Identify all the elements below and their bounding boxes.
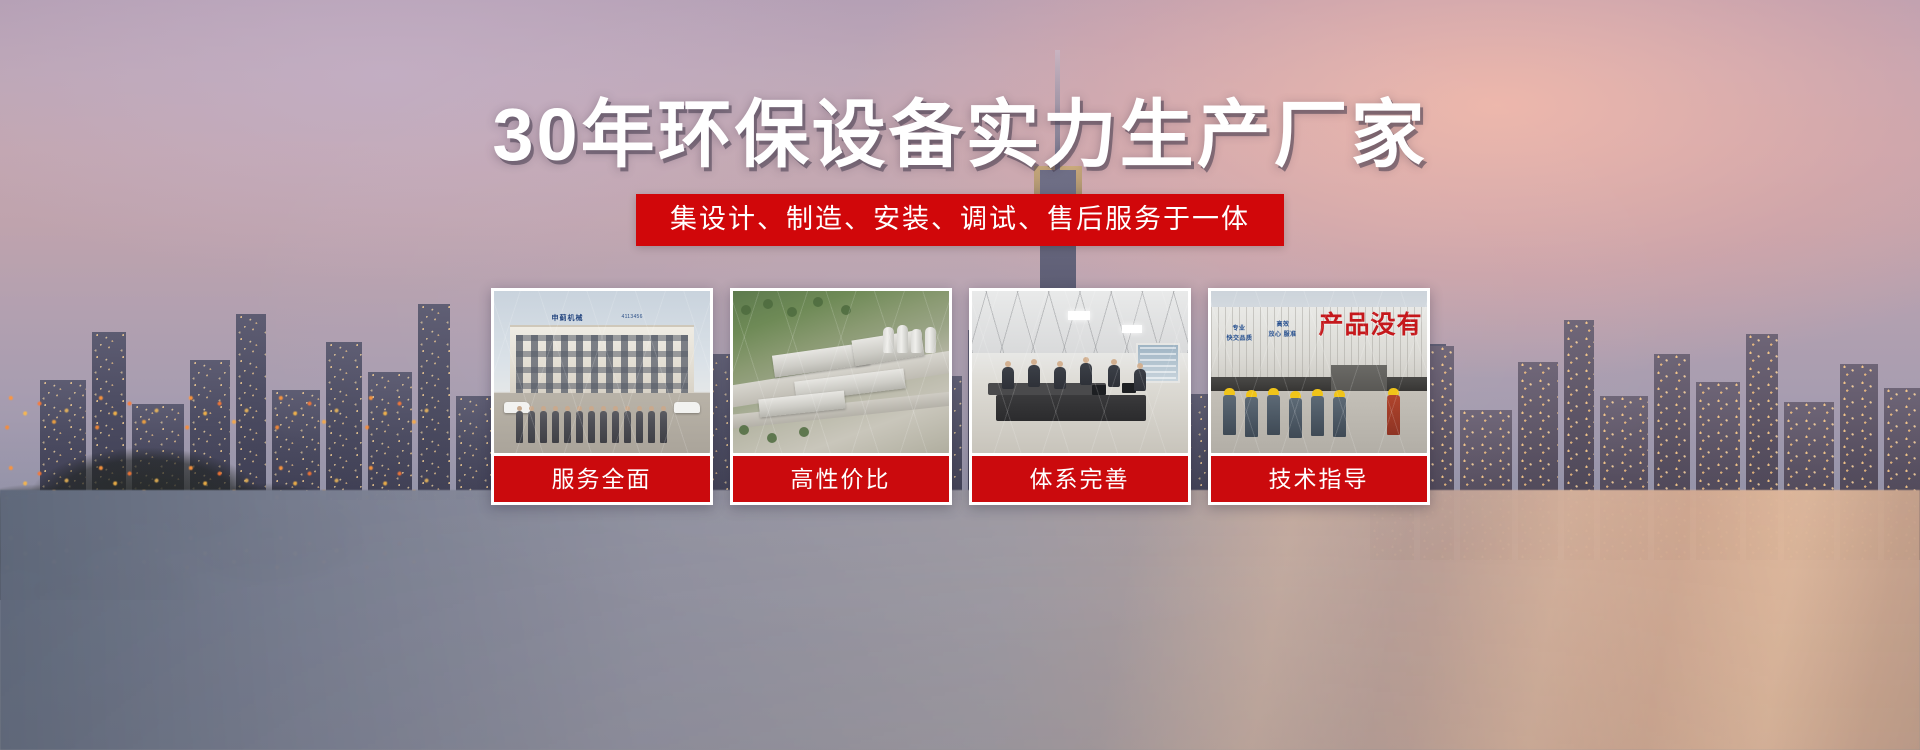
feature-card[interactable]: 高性价比 <box>730 288 952 505</box>
factory-workers-photo: 产品没有 专业 快交品质 高效 放心 服准 <box>1211 291 1427 453</box>
feature-card[interactable]: 体系完善 <box>969 288 1191 505</box>
factory-slogan-left: 专业 <box>1233 325 1246 334</box>
feature-card-label: 高性价比 <box>733 456 949 502</box>
building-sign-text: 申蓟机械 <box>552 313 584 323</box>
factory-slogan-right-sub: 放心 服准 <box>1269 331 1297 340</box>
feature-card-label: 服务全面 <box>494 456 710 502</box>
hero-banner: 30年环保设备实力生产厂家 集设计、制造、安装、调试、售后服务于一体 申蓟机械 … <box>0 0 1920 750</box>
building-sign-phone: 4113456 <box>622 314 643 320</box>
page-title: 30年环保设备实力生产厂家 <box>492 98 1427 172</box>
company-headquarters-photo: 申蓟机械 4113456 <box>494 291 710 453</box>
feature-card-label: 体系完善 <box>972 456 1188 502</box>
feature-card-row: 申蓟机械 4113456 服务全 <box>491 288 1430 505</box>
feature-card-label: 技术指导 <box>1211 456 1427 502</box>
feature-card[interactable]: 申蓟机械 4113456 服务全 <box>491 288 713 505</box>
factory-slogan-left-sub: 快交品质 <box>1227 335 1253 344</box>
banner-content: 30年环保设备实力生产厂家 集设计、制造、安装、调试、售后服务于一体 申蓟机械 … <box>0 0 1920 750</box>
factory-slogan-right: 高效 <box>1277 321 1290 330</box>
subtitle-banner: 集设计、制造、安装、调试、售后服务于一体 <box>636 194 1284 246</box>
aerial-plant-photo <box>733 291 949 453</box>
office-workspace-photo <box>972 291 1188 453</box>
feature-card[interactable]: 产品没有 专业 快交品质 高效 放心 服准 <box>1208 288 1430 505</box>
factory-wall-banner: 产品没有 <box>1318 313 1422 338</box>
staff-line <box>516 411 667 443</box>
